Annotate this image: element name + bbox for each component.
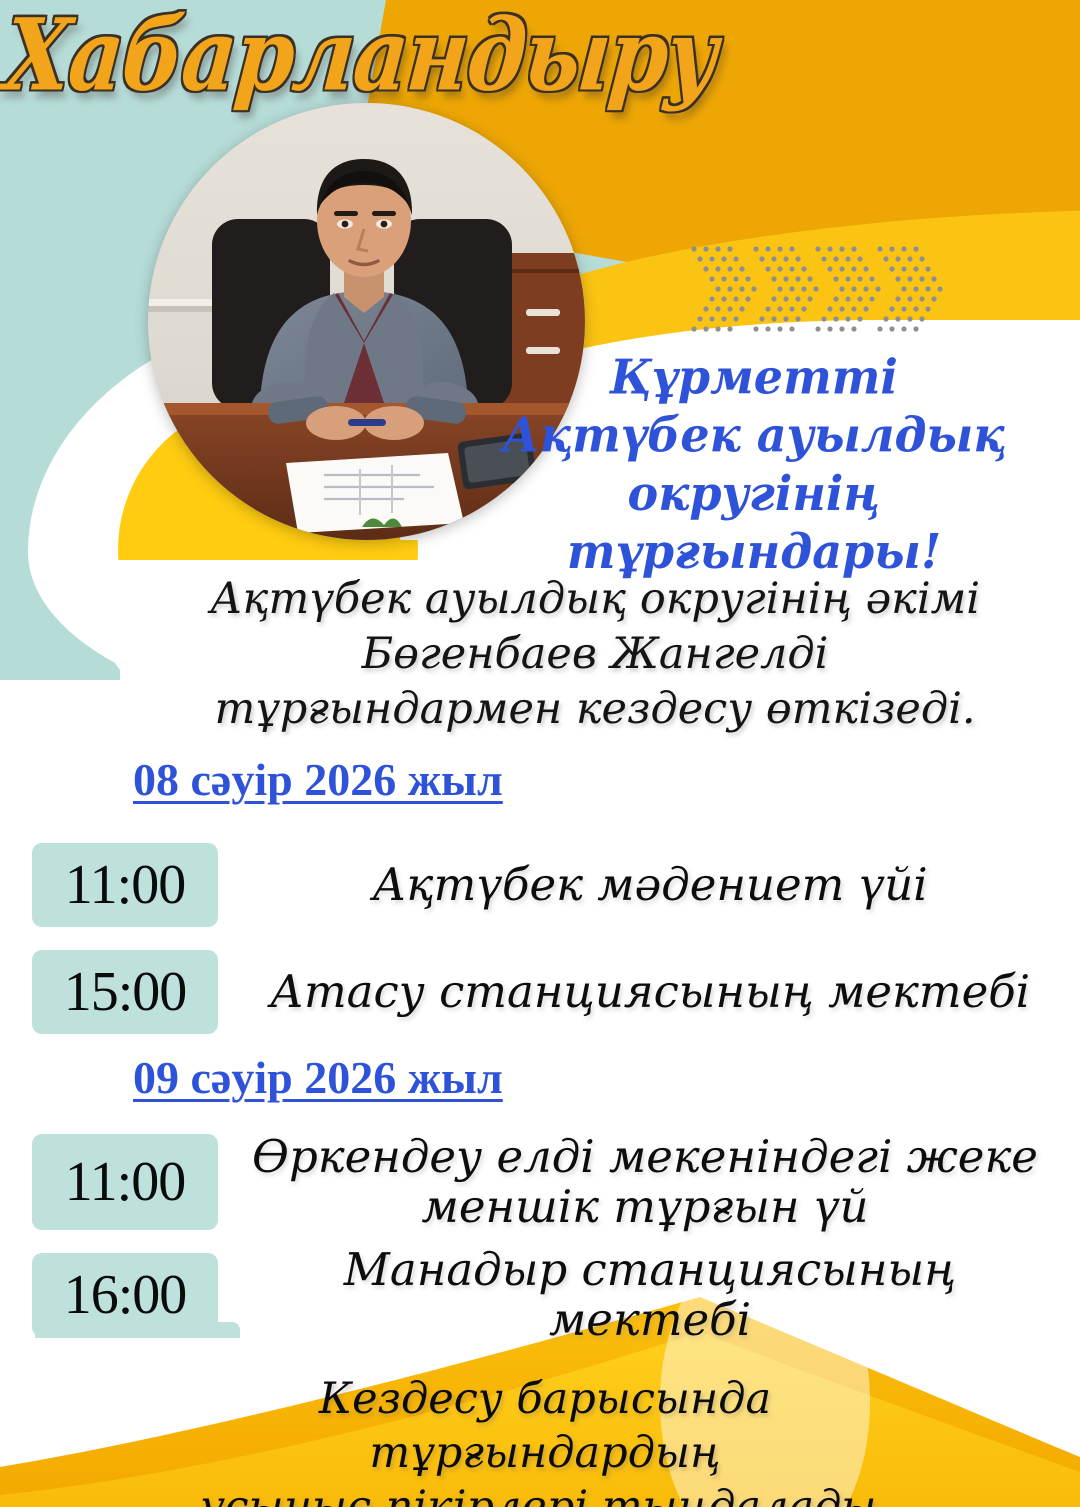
time-badge: 11:00 xyxy=(32,1134,218,1230)
venue-label: Өркендеу елді мекеніндегі жеке меншік тұ… xyxy=(250,1132,1040,1233)
schedule-row: 11:00 Ақтүбек мәдениет үйі xyxy=(32,843,1050,927)
time-badge: 15:00 xyxy=(32,950,218,1034)
announcement-poster: Хабарландыру xyxy=(0,0,1080,1507)
greeting-line-3: округінің тұрғындары! xyxy=(440,464,1068,581)
venue-label: Атасу станциясының мектебі xyxy=(250,967,1050,1017)
greeting-block: Құрметті Ақтүбек ауылдық округінің тұрғы… xyxy=(440,348,1068,581)
footer-note: Кездесу барысында тұрғындардың ұсыныс-пі… xyxy=(140,1372,950,1507)
footer-line-1: Кездесу барысында тұрғындардың xyxy=(140,1372,950,1480)
footer-line-2: ұсыныс-пікірлері тыңдалады. xyxy=(140,1480,950,1507)
intro-paragraph: Ақтүбек ауылдық округінің әкімі Бөгенбае… xyxy=(150,572,1040,737)
page-title: Хабарландыру xyxy=(1,2,690,107)
date-heading-day2: 09 сәуір 2026 жыл xyxy=(133,1055,503,1101)
schedule-row: 15:00 Атасу станциясының мектебі xyxy=(32,950,1050,1034)
greeting-line-1: Құрметті xyxy=(440,348,1068,406)
intro-line-2: Бөгенбаев Жангелді xyxy=(150,627,1040,682)
schedule-row: 16:00 Манадыр станциясының мектебі xyxy=(32,1245,1050,1346)
intro-line-1: Ақтүбек ауылдық округінің әкімі xyxy=(150,572,1040,627)
intro-line-3: тұрғындармен кездесу өткізеді. xyxy=(150,682,1040,737)
time-badge: 11:00 xyxy=(32,843,218,927)
schedule-row: 11:00 Өркендеу елді мекеніндегі жеке мен… xyxy=(32,1132,1040,1233)
venue-label: Ақтүбек мәдениет үйі xyxy=(250,860,1050,910)
venue-label: Манадыр станциясының мектебі xyxy=(250,1245,1050,1346)
date-heading-day1: 08 сәуір 2026 жыл xyxy=(133,757,503,803)
dotted-chevrons-icon xyxy=(688,243,956,335)
greeting-line-2: Ақтүбек ауылдық xyxy=(440,406,1068,464)
time-badge: 16:00 xyxy=(32,1253,218,1337)
